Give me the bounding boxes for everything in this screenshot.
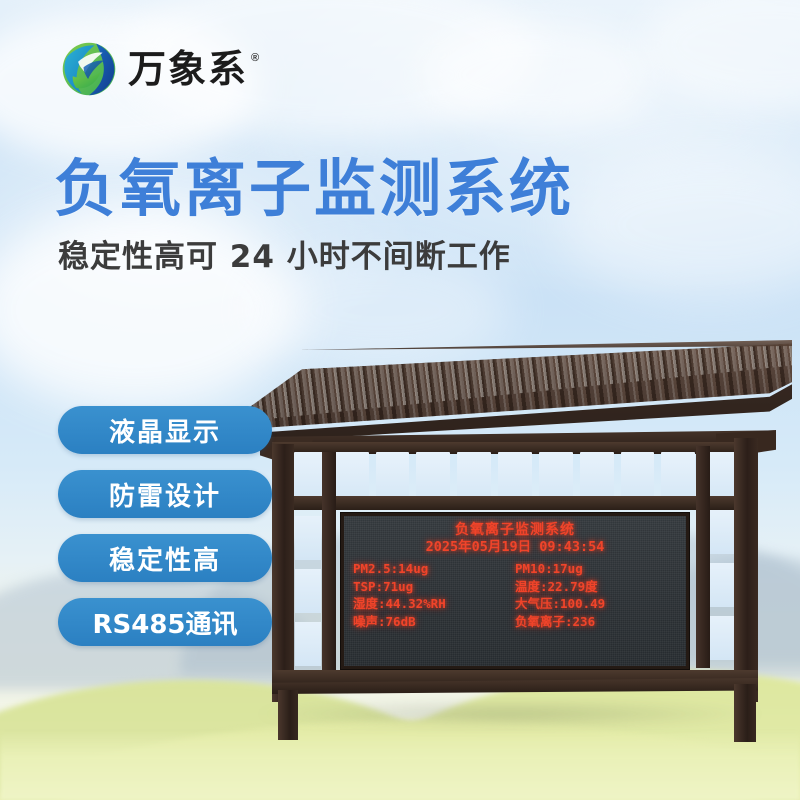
lattice-window <box>376 452 410 498</box>
lattice-window <box>621 452 655 498</box>
led-reading-pressure: 大气压:100.49 <box>515 595 677 613</box>
feature-badge-lcd[interactable]: 液晶显示 <box>58 406 272 454</box>
led-reading-row: TSP:71ug 温度:22.79度 <box>353 578 677 596</box>
led-reading-negative-oxygen-ion: 负氧离子:236 <box>515 613 677 631</box>
lattice-window <box>580 452 614 498</box>
led-reading-row: 湿度:44.32%RH 大气压:100.49 <box>353 595 677 613</box>
lattice-window <box>457 452 491 498</box>
lattice-window <box>295 516 321 560</box>
cloud-decoration <box>420 20 650 130</box>
page-title: 负氧离子监测系统 <box>54 156 674 223</box>
lattice-window <box>539 452 573 498</box>
cloud-decoration <box>640 0 800 110</box>
lattice-window-row <box>294 452 736 498</box>
lattice-window <box>498 452 532 498</box>
globe-swirl-logo-icon <box>60 40 118 98</box>
led-title: 负氧离子监测系统 <box>353 522 677 538</box>
led-reading-row: PM2.5:14ug PM10:17ug <box>353 560 677 578</box>
frame-post-left <box>272 444 294 702</box>
led-screen-bezel: 负氧离子监测系统 2025年05月19日 09:43:54 PM2.5:14ug… <box>340 512 690 670</box>
lattice-window <box>295 622 321 666</box>
product-poster: 万象系 ® 负氧离子监测系统 稳定性高可 24 小时不间断工作 液晶显示 防雷设… <box>0 0 800 800</box>
brand-logo: 万象系 ® <box>60 40 259 98</box>
led-reading-row: 噪声:76dB 负氧离子:236 <box>353 613 677 631</box>
monitoring-station-structure: 负氧离子监测系统 2025年05月19日 09:43:54 PM2.5:14ug… <box>232 338 792 720</box>
lattice-window <box>709 616 735 660</box>
lattice-window <box>295 569 321 613</box>
led-readings-grid: PM2.5:14ug PM10:17ug TSP:71ug 温度:22.79度 … <box>353 560 677 631</box>
frame-post-inner-right <box>696 446 710 668</box>
lattice-window <box>661 452 695 498</box>
frame-rail-middle <box>272 496 758 510</box>
feature-badge-list: 液晶显示 防雷设计 稳定性高 RS485通讯 <box>58 406 272 646</box>
led-display-screen[interactable]: 负氧离子监测系统 2025年05月19日 09:43:54 PM2.5:14ug… <box>344 516 686 666</box>
led-reading-pm25: PM2.5:14ug <box>353 560 515 578</box>
support-leg-left <box>278 690 298 740</box>
led-datetime: 2025年05月19日 09:43:54 <box>353 539 677 556</box>
wooden-frame: 负氧离子监测系统 2025年05月19日 09:43:54 PM2.5:14ug… <box>272 438 758 708</box>
headline-block: 负氧离子监测系统 稳定性高可 24 小时不间断工作 <box>54 156 674 276</box>
tiled-roof <box>232 338 792 443</box>
led-reading-noise: 噪声:76dB <box>353 613 515 631</box>
led-reading-temperature: 温度:22.79度 <box>515 578 677 596</box>
feature-badge-stability[interactable]: 稳定性高 <box>58 534 272 582</box>
lattice-column-right <box>709 510 735 660</box>
feature-badge-rs485[interactable]: RS485通讯 <box>58 598 272 646</box>
led-reading-tsp: TSP:71ug <box>353 578 515 596</box>
brand-wordmark: 万象系 ® <box>128 50 259 88</box>
lattice-window <box>709 563 735 607</box>
lattice-window <box>709 510 735 554</box>
grass-foreground <box>0 730 800 800</box>
frame-post-right <box>734 438 758 702</box>
feature-badge-lightning-proof[interactable]: 防雷设计 <box>58 470 272 518</box>
registered-mark-icon: ® <box>251 52 259 64</box>
lattice-column-left <box>295 516 321 666</box>
page-subtitle: 稳定性高可 24 小时不间断工作 <box>58 239 674 276</box>
led-reading-pm10: PM10:17ug <box>515 560 677 578</box>
led-reading-humidity: 湿度:44.32%RH <box>353 595 515 613</box>
lattice-window <box>416 452 450 498</box>
lattice-window <box>335 452 369 498</box>
brand-name: 万象系 <box>128 50 248 88</box>
support-leg-right <box>734 684 756 742</box>
frame-post-inner-left <box>322 452 336 674</box>
